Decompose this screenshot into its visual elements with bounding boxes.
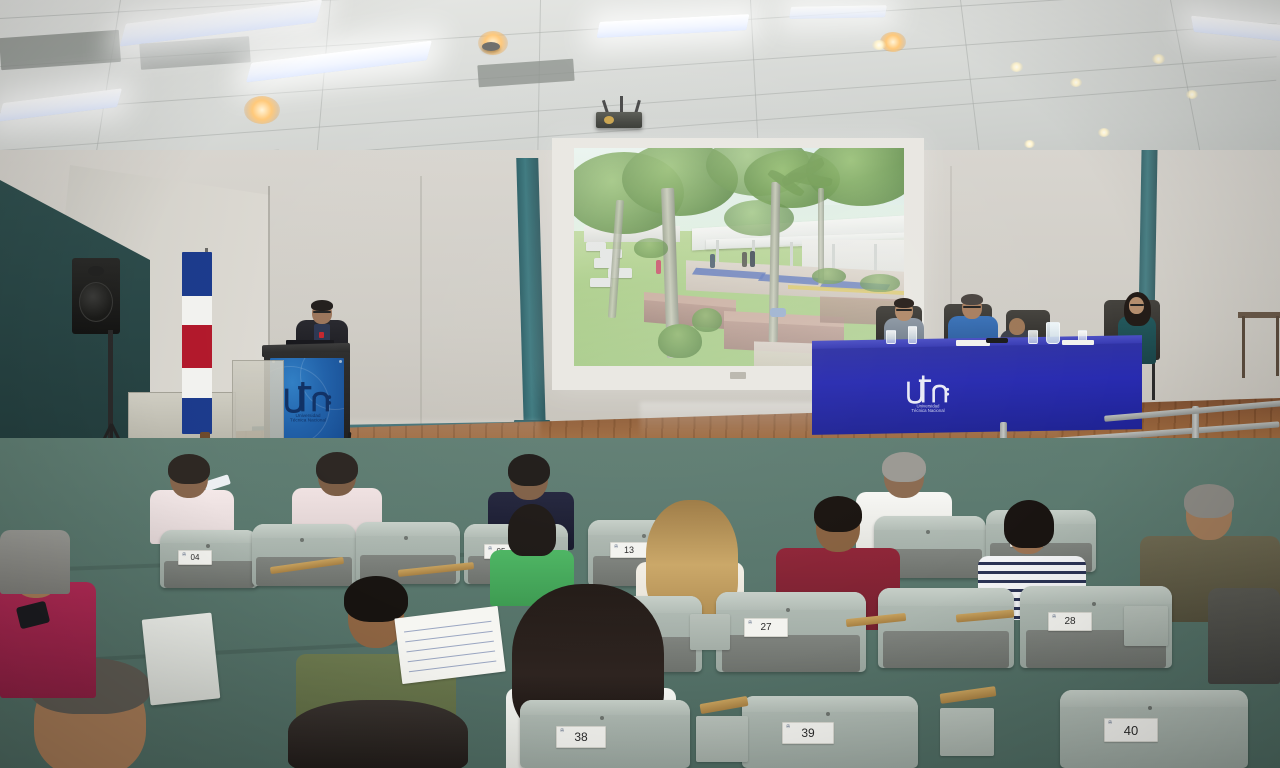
notebook-rule — [409, 661, 496, 673]
table-banner-utn-logo: Universidad Técnica Nacional — [898, 372, 958, 412]
smoke-detector-icon — [482, 42, 500, 51]
flag-stripe-white — [182, 296, 212, 325]
seat-label-icon: ✇ — [748, 621, 752, 626]
seat-number: 38 — [574, 730, 587, 744]
presenter-lapel-pin — [319, 332, 324, 338]
ceiling-downlight — [1010, 62, 1023, 72]
seat-number-label: ✇ 40 — [1104, 718, 1158, 742]
table-papers — [956, 340, 990, 346]
seat-number-label: ✇ 27 — [744, 618, 788, 637]
notebook-rule — [407, 641, 494, 653]
render-shrub — [860, 274, 900, 292]
seat-pad — [883, 631, 1008, 668]
audience-hair — [882, 452, 926, 482]
render-person-seated — [770, 308, 786, 317]
notebook-rule — [404, 621, 491, 633]
wall-seam — [420, 176, 422, 426]
seat-mount-plate — [1124, 606, 1168, 646]
podium-logo-line2: Técnica Nacional — [290, 418, 326, 422]
audience-member-right-edge — [1208, 560, 1280, 680]
podium-screw — [339, 360, 342, 363]
seat-rim — [520, 700, 690, 715]
render-person — [656, 260, 661, 274]
seat-writing-tablet[interactable] — [142, 613, 221, 706]
speaker-tweeter-icon — [88, 266, 104, 276]
flag-stripe-blue — [182, 398, 212, 434]
seat-label-icon: ✇ — [614, 545, 618, 550]
render-shrub — [812, 268, 846, 284]
flag-stripe-red — [182, 325, 212, 369]
audience-hair — [288, 700, 468, 768]
render-shrub — [634, 238, 668, 258]
panelist-assistant-head — [1009, 318, 1025, 335]
seat-bolt — [404, 536, 408, 540]
seat-rim — [252, 524, 356, 538]
auditorium-seat[interactable] — [878, 588, 1014, 668]
audience-torso — [1208, 588, 1280, 684]
audience-torso — [0, 530, 70, 594]
audience-hair — [316, 452, 358, 484]
notebook-rule — [408, 651, 495, 663]
audience-hair — [508, 504, 556, 556]
water-pitcher — [1046, 322, 1060, 344]
seat-number-label: ✇ 38 — [556, 726, 606, 748]
seat-rim — [1020, 586, 1172, 604]
ceiling-downlight — [1186, 90, 1198, 99]
auditorium-seat[interactable]: ✇ 04 — [160, 530, 258, 588]
seat-rim — [160, 530, 258, 543]
render-person — [742, 252, 747, 267]
audience-hair — [814, 496, 862, 532]
water-glass — [908, 326, 917, 344]
seat-bolt — [1092, 602, 1096, 606]
seat-bolt — [1148, 706, 1152, 710]
pa-speaker — [72, 258, 120, 334]
seat-bolt — [786, 608, 790, 612]
projector-lens-icon — [604, 116, 614, 124]
audience-hair — [1004, 500, 1054, 548]
seat-bolt — [926, 530, 930, 534]
costa-rica-flag — [182, 252, 212, 434]
auditorium-scene: Universidad Técnica Nacional — [0, 0, 1280, 768]
table-logo-line2: Técnica Nacional — [911, 408, 944, 412]
ceiling-downlight — [872, 40, 886, 50]
ceiling-downlight — [1024, 140, 1035, 148]
seat-label-icon: ✇ — [1108, 721, 1112, 726]
audience-hair — [508, 454, 550, 486]
ceiling-light-panel — [789, 5, 887, 19]
audience-hair — [168, 454, 210, 484]
seat-label-icon: ✇ — [1052, 615, 1056, 620]
auditorium-seat[interactable]: ✇ 27 — [716, 592, 866, 672]
ceiling-downlight — [1070, 78, 1082, 87]
render-tree-crown — [724, 200, 794, 236]
flag-stripe-white — [182, 368, 212, 397]
seat-number-label: ✇ 39 — [782, 722, 834, 744]
table-papers — [1062, 340, 1094, 345]
water-glass — [1028, 330, 1038, 344]
audience-hair — [1184, 484, 1234, 518]
panelist-left-glasses-icon — [896, 309, 912, 311]
notebook-rule — [406, 631, 493, 643]
screen-pull-tab — [730, 372, 746, 379]
table-microphone — [986, 338, 1008, 343]
seat-label-icon: ✇ — [182, 553, 186, 558]
seat-mount-plate — [940, 708, 994, 756]
presenter-glasses-icon — [313, 311, 331, 313]
ceiling-downlight — [1098, 128, 1110, 137]
presenter-hair — [311, 300, 333, 311]
seat-label-icon: ✇ — [786, 725, 790, 730]
panelist-left-hair — [894, 298, 914, 308]
seat-number: 27 — [760, 622, 771, 633]
seat-mount-plate — [696, 716, 748, 762]
audience-member-front — [288, 700, 468, 768]
panel-table-cloth[interactable] — [812, 343, 1142, 435]
water-glass — [886, 330, 896, 344]
seat-bolt — [300, 538, 304, 542]
seat-rim — [878, 588, 1014, 606]
seat-pad — [164, 561, 254, 588]
auditorium-seat[interactable]: ✇ 40 — [1060, 690, 1248, 768]
audience-torso — [0, 582, 96, 698]
seat-number-label: ✇ 28 — [1048, 612, 1092, 631]
render-car — [590, 278, 612, 287]
audience-hair — [344, 576, 408, 622]
seat-mount-plate — [690, 614, 730, 650]
podium-logo-line1: Universidad — [296, 413, 321, 419]
podium-utn-logo: Universidad Técnica Nacional — [282, 378, 334, 422]
ceiling-projector — [596, 112, 642, 128]
seat-rim — [742, 696, 918, 712]
seat-rim — [716, 592, 866, 610]
auditorium-seat[interactable]: ✇ 38 — [520, 700, 690, 768]
seat-bolt — [826, 712, 830, 716]
render-person — [710, 254, 715, 268]
side-cabinet — [232, 360, 284, 440]
ceiling-warm-downlight — [244, 96, 280, 124]
flag-stripe-blue — [182, 252, 212, 296]
side-table-leg — [1276, 316, 1279, 376]
seat-bolt — [206, 544, 210, 548]
render-shrub — [692, 308, 722, 332]
render-person — [750, 251, 755, 267]
speaker-woofer-icon — [79, 282, 113, 322]
seat-number: 40 — [1124, 723, 1138, 738]
seat-number: 28 — [1064, 616, 1075, 627]
seat-bolt — [600, 716, 604, 720]
audience-member-left-edge — [0, 500, 70, 590]
seat-rim — [1060, 690, 1248, 707]
seat-rim — [356, 522, 460, 536]
ceiling-downlight — [1152, 54, 1165, 64]
seat-number: 04 — [191, 553, 200, 562]
panelist-center-hair — [961, 294, 983, 305]
panelist-center-glasses-icon — [963, 306, 981, 308]
panelist-far-right-glasses-icon — [1130, 304, 1144, 306]
projected-image — [574, 148, 904, 366]
auditorium-seat[interactable]: ✇ 39 — [742, 696, 918, 768]
seat-pad — [722, 635, 860, 672]
seat-number: 39 — [801, 726, 814, 740]
seat-label-icon: ✇ — [560, 729, 564, 734]
seat-number-label: ✇ 04 — [178, 550, 212, 565]
side-table-leg — [1242, 316, 1245, 378]
